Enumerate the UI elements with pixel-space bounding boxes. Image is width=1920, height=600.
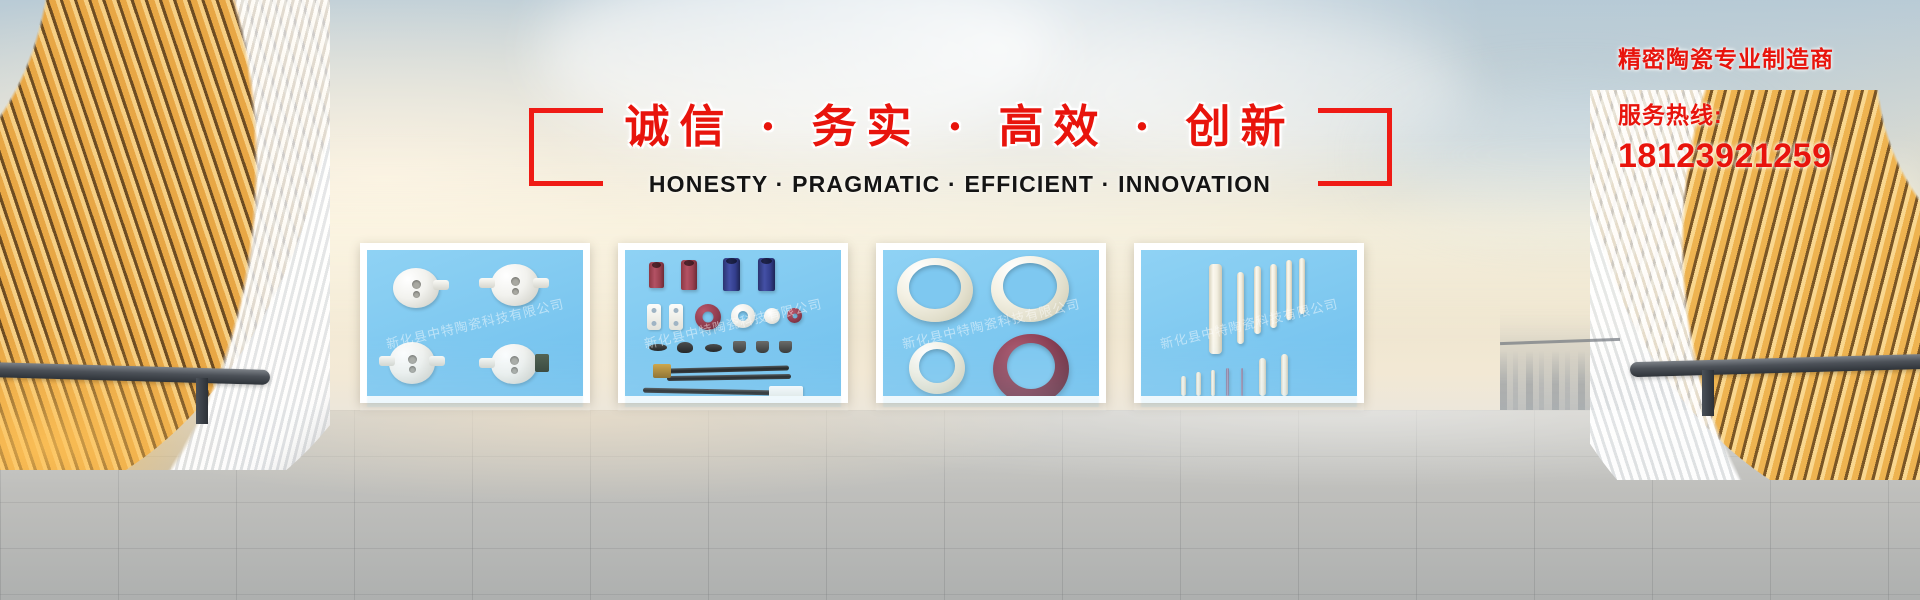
hero-banner: 诚信 · 务实 · 高效 · 创新 HONESTY · PRAGMATIC · …: [0, 0, 1920, 600]
ceramic-ring-large: [991, 256, 1069, 322]
ceramic-rod-small: [1241, 368, 1243, 396]
lead-wire: [643, 388, 771, 396]
ceramic-ring: [695, 304, 721, 330]
right-canopy-structure: [1590, 90, 1920, 480]
ceramic-rod: [1209, 264, 1222, 354]
ceramic-plate: [669, 304, 683, 330]
ceramic-rod: [1237, 272, 1244, 344]
holder-tab: [479, 358, 495, 368]
right-railing-post: [1702, 370, 1714, 416]
holder-tab: [433, 280, 449, 290]
left-canopy-structure: [0, 0, 330, 470]
ceramic-rod-small: [1226, 368, 1229, 396]
product-panel-lamp-holders[interactable]: 新化县中特陶瓷科技有限公司: [360, 243, 590, 403]
ceramic-cone: [677, 342, 693, 353]
left-railing-post: [196, 378, 208, 424]
ceramic-rod-small: [1281, 354, 1288, 396]
product-panel-rods[interactable]: 新化县中特陶瓷科技有限公司: [1134, 243, 1364, 403]
ceramic-rod: [1299, 258, 1305, 314]
ceramic-rod-small: [1211, 370, 1215, 396]
ceramic-rod-small: [1181, 376, 1186, 396]
cloud: [540, 0, 1060, 150]
metal-clip: [733, 341, 746, 353]
ceramic-rod-small: [1196, 372, 1201, 396]
ceramic-rod: [1286, 260, 1292, 320]
wire-terminal: [653, 364, 671, 378]
holder-tab: [533, 278, 549, 288]
ceramic-ring-maroon: [993, 334, 1069, 396]
ceramic-bead: [764, 308, 780, 324]
ceramic-bead: [787, 308, 802, 323]
ceramic-holder: [491, 344, 537, 384]
ceramic-rod: [1254, 266, 1261, 334]
holder-contact-block: [535, 354, 549, 372]
left-canopy-shell: [0, 0, 330, 470]
ceramic-ring: [731, 304, 755, 328]
ceramic-cone: [705, 344, 722, 352]
product-panel-sleeves-wires[interactable]: 新化县中特陶瓷科技有限公司: [618, 243, 848, 403]
ceramic-sleeve: [758, 258, 775, 291]
metal-clip: [779, 341, 792, 353]
ceramic-sleeve: [723, 258, 740, 291]
ceramic-holder: [393, 268, 439, 308]
ceramic-ring-large: [897, 258, 973, 322]
wire-connector: [769, 386, 803, 396]
holder-tab: [479, 278, 495, 288]
ceramic-ring-small: [909, 342, 965, 394]
ceramic-sleeve: [649, 262, 664, 288]
product-panel-row: 新化县中特陶瓷科技有限公司: [360, 243, 1364, 403]
lead-wire: [667, 374, 791, 381]
ceramic-rod-small: [1259, 358, 1266, 396]
metal-clip: [756, 341, 769, 353]
ceramic-holder: [491, 264, 539, 306]
ceramic-sleeve: [681, 260, 697, 290]
product-panel-rings[interactable]: 新化县中特陶瓷科技有限公司: [876, 243, 1106, 403]
holder-tab: [429, 356, 445, 366]
right-canopy-shell: [1590, 90, 1920, 480]
ceramic-cone: [649, 344, 667, 351]
ceramic-plate: [647, 304, 661, 330]
ceramic-rod: [1270, 264, 1277, 328]
panel-watermark: 新化县中特陶瓷科技有限公司: [1158, 293, 1340, 352]
lead-wire: [667, 365, 789, 373]
holder-tab: [379, 356, 395, 366]
